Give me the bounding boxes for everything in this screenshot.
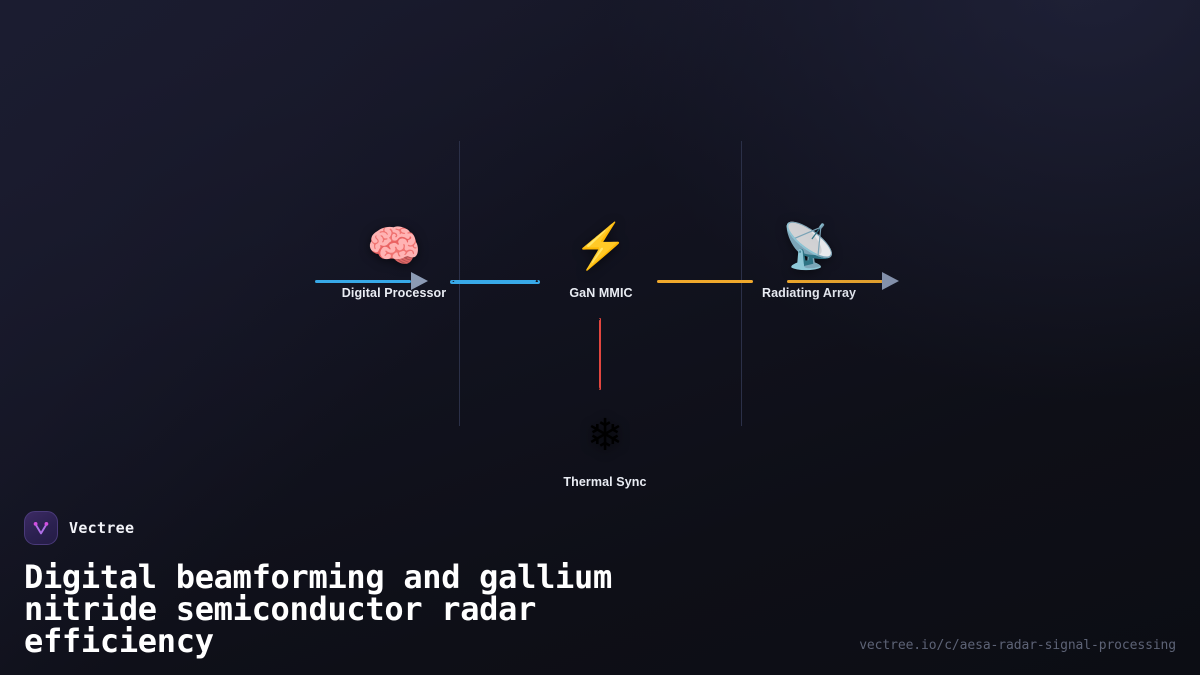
node-thermal-sync[interactable]: ❄ Thermal Sync (563, 411, 646, 489)
slide-canvas: 🧠 Digital Processor ⚡ GaN MMIC 📡 Radiati… (0, 0, 1200, 675)
node-radiating-array[interactable]: 📡 Radiating Array (762, 222, 856, 300)
node-label-thermal-sync: Thermal Sync (563, 475, 646, 489)
divider-2 (741, 141, 742, 426)
node-gan-mmic[interactable]: ⚡ GaN MMIC (569, 222, 632, 300)
node-label-radiating-array: Radiating Array (762, 286, 856, 300)
brand[interactable]: Vectree (24, 511, 1176, 545)
edge-processor-mmic (450, 280, 540, 284)
site-url: vectree.io/c/aesa-radar-signal-processin… (859, 638, 1176, 653)
vectree-v-logo-icon (24, 511, 58, 545)
node-label-gan-mmic: GaN MMIC (569, 286, 632, 300)
edge-thermal-link (599, 318, 601, 390)
snowflake-icon: ❄ (587, 411, 624, 461)
arrowhead-array-out (882, 272, 899, 290)
page-title: Digital beamforming and gallium nitride … (24, 561, 784, 657)
brain-icon: 🧠 (367, 222, 422, 272)
brand-name: Vectree (69, 519, 134, 537)
edge-mmic-out (657, 280, 753, 283)
lightning-icon: ⚡ (574, 222, 629, 272)
node-label-digital-processor: Digital Processor (342, 286, 447, 300)
satellite-dish-icon: 📡 (782, 222, 837, 272)
node-digital-processor[interactable]: 🧠 Digital Processor (342, 222, 447, 300)
